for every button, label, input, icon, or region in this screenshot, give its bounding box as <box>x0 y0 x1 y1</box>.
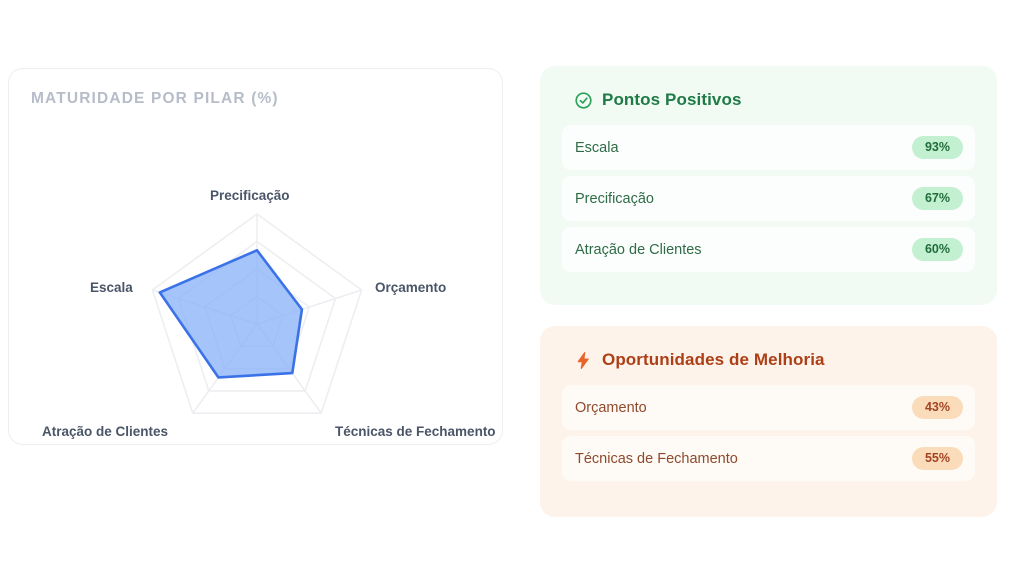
positive-points-list: Escala 93% Precificação 67% Atração de C… <box>540 109 997 272</box>
status-badge: 60% <box>912 238 963 262</box>
list-item-label: Orçamento <box>575 400 647 416</box>
radar-axis-label-orcamento: Orçamento <box>375 280 446 295</box>
list-item[interactable]: Escala 93% <box>562 125 975 170</box>
maturity-radar-card: MATURIDADE POR PILAR (%) Precificação Or <box>8 68 503 445</box>
list-item-label: Precificação <box>575 191 654 207</box>
radar-axis-label-tecnicas-de-fechamento: Técnicas de Fechamento <box>335 424 496 439</box>
list-item[interactable]: Precificação 67% <box>562 176 975 221</box>
positive-points-header: Pontos Positivos <box>540 66 997 109</box>
positive-points-panel: Pontos Positivos Escala 93% Precificação… <box>540 66 997 305</box>
improvement-opportunities-title: Oportunidades de Melhoria <box>602 350 825 370</box>
list-item-label: Escala <box>575 140 619 156</box>
list-item[interactable]: Técnicas de Fechamento 55% <box>562 436 975 481</box>
improvement-opportunities-header: Oportunidades de Melhoria <box>540 326 997 369</box>
list-item-label: Técnicas de Fechamento <box>575 451 738 467</box>
list-item[interactable]: Atração de Clientes 60% <box>562 227 975 272</box>
list-item-label: Atração de Clientes <box>575 242 702 258</box>
improvement-opportunities-list: Orçamento 43% Técnicas de Fechamento 55% <box>540 369 997 481</box>
status-badge: 55% <box>912 447 963 471</box>
radar-chart-svg <box>9 69 503 445</box>
improvement-opportunities-panel: Oportunidades de Melhoria Orçamento 43% … <box>540 326 997 517</box>
radar-chart: Precificação Orçamento Técnicas de Fecha… <box>9 69 503 445</box>
list-item[interactable]: Orçamento 43% <box>562 385 975 430</box>
check-circle-icon <box>574 91 593 110</box>
status-badge: 67% <box>912 187 963 211</box>
radar-axis-label-escala: Escala <box>90 280 133 295</box>
zap-icon <box>574 351 593 370</box>
status-badge: 93% <box>912 136 963 160</box>
radar-axis-label-atracao-de-clientes: Atração de Clientes <box>42 424 168 439</box>
positive-points-title: Pontos Positivos <box>602 90 742 110</box>
status-badge: 43% <box>912 396 963 420</box>
radar-axis-label-precificacao: Precificação <box>210 188 290 203</box>
